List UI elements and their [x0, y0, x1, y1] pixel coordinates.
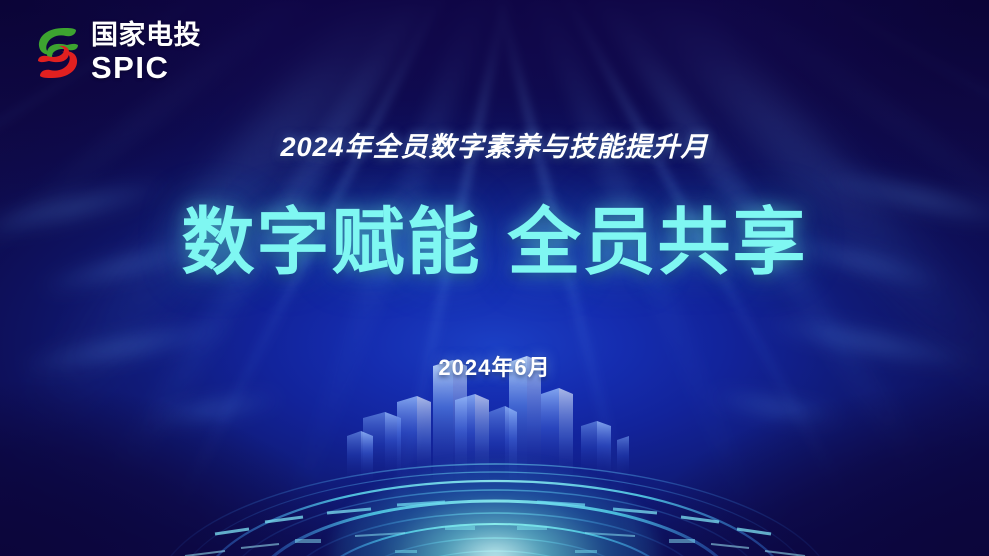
brand-name-en: SPIC — [91, 52, 201, 83]
brand-logo-text: 国家电投 SPIC — [91, 22, 201, 83]
poster-canvas: 国家电投 SPIC 2024年全员数字素养与技能提升月 数字赋能全员共享 202… — [0, 0, 989, 556]
headline-part-1: 数字赋能 — [182, 202, 482, 283]
brand-name-cn: 国家电投 — [91, 22, 201, 49]
brand-logo: 国家电投 SPIC — [34, 22, 201, 83]
event-subtitle: 2024年全员数字素养与技能提升月 — [0, 125, 989, 164]
spic-spiral-logo-icon — [34, 24, 82, 82]
headline-part-2: 全员共享 — [508, 202, 808, 283]
page-title: 数字赋能全员共享 — [0, 202, 989, 284]
event-date: 2024年6月 — [0, 350, 989, 382]
